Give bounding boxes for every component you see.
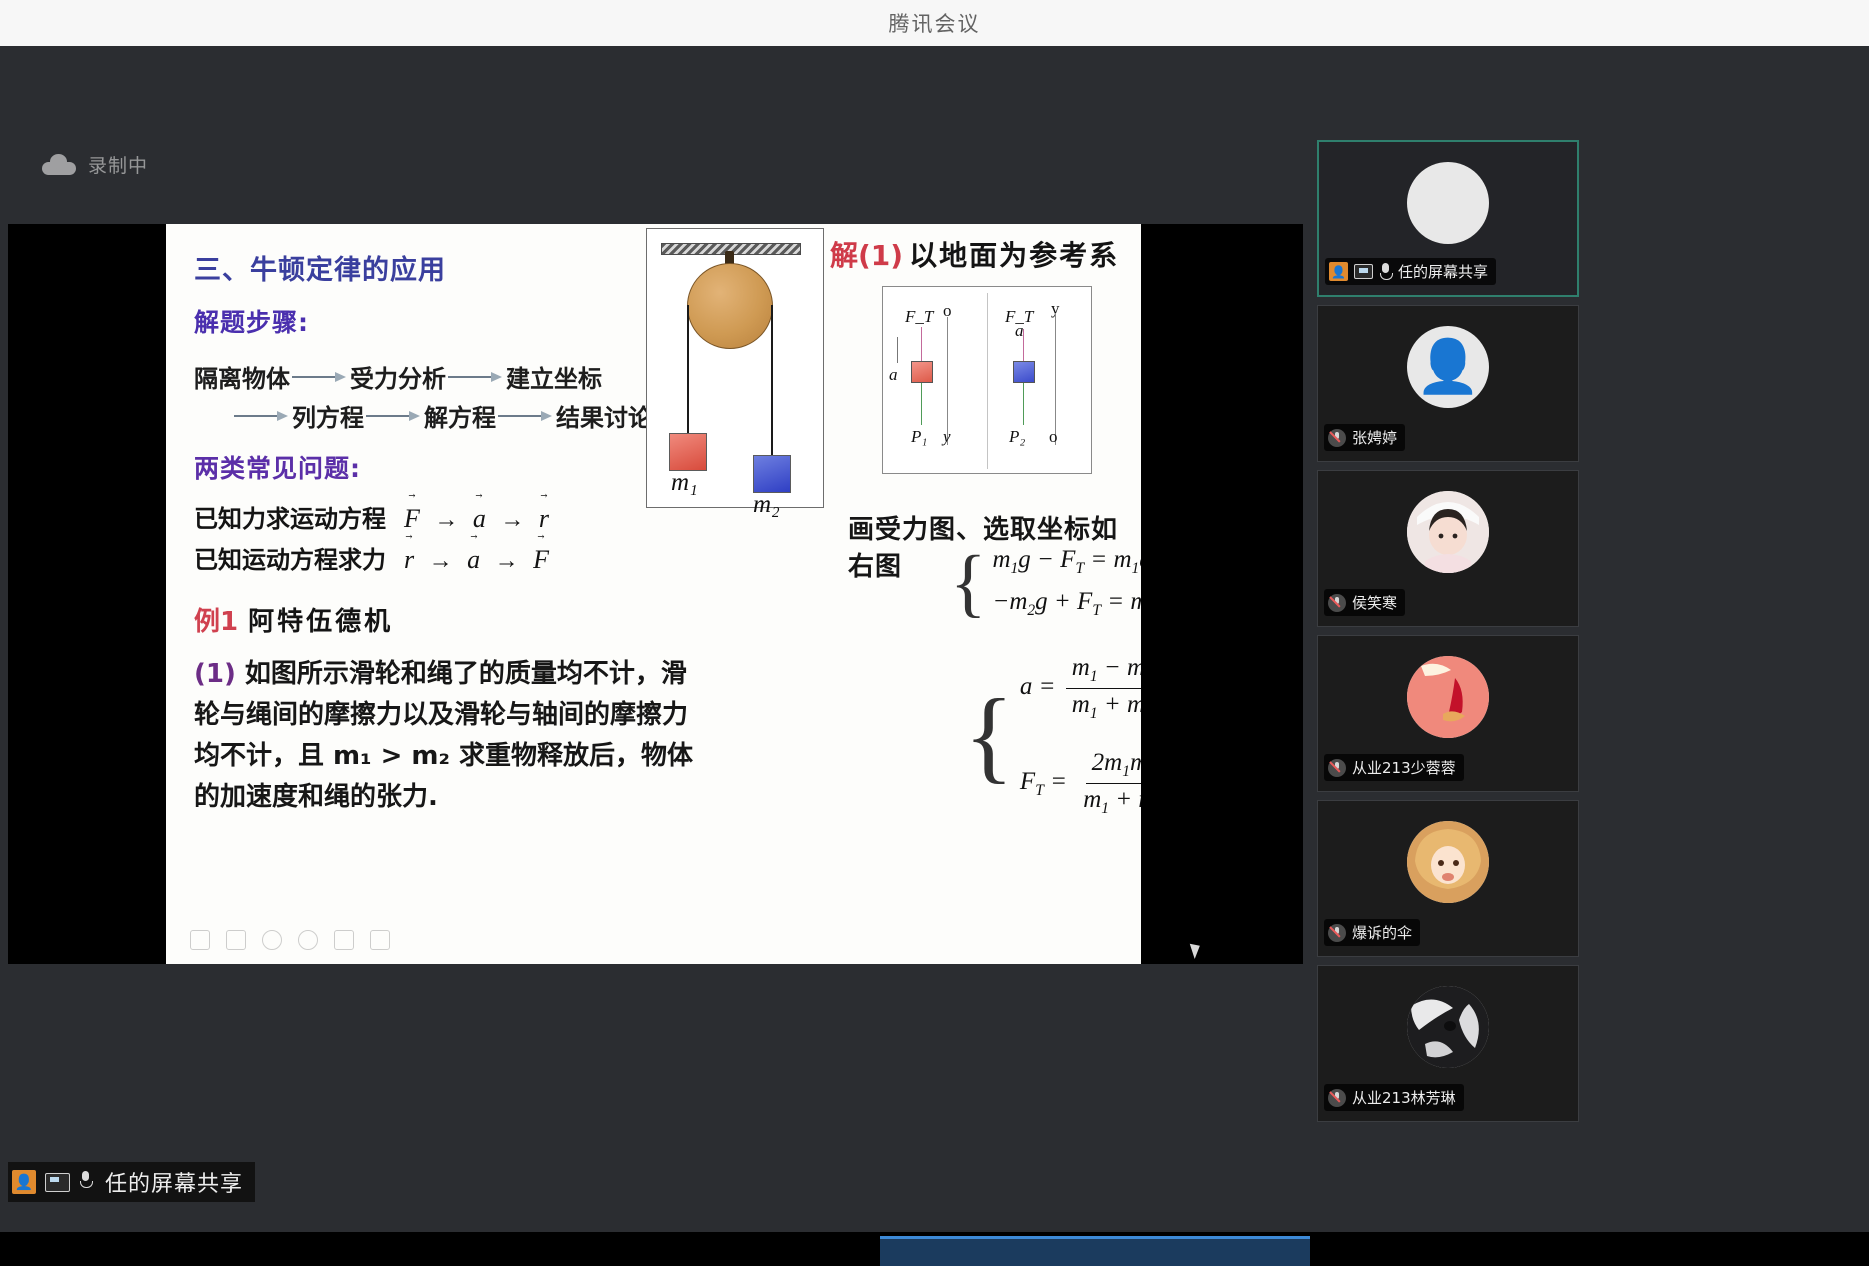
type2-sym-2: a xyxy=(467,542,480,575)
shape-icon[interactable] xyxy=(298,930,318,950)
nameplate: 张娉婷 xyxy=(1324,424,1405,451)
shared-screen-stage[interactable]: 三、牛顿定律的应用 解题步骤: 隔离物体 受力分析 建立坐标 列方程 解方程 xyxy=(8,224,1303,964)
arrow-icon xyxy=(292,371,348,383)
participant-tile-3[interactable]: 侯笑寒 xyxy=(1317,470,1579,627)
microphone-icon xyxy=(79,1171,96,1193)
microphone-muted-icon xyxy=(1328,429,1346,447)
flow-step-3: 建立坐标 xyxy=(506,359,602,394)
flow-row-1: 隔离物体 受力分析 建立坐标 xyxy=(194,359,694,394)
participant-tile-5[interactable]: 爆诉的伞 xyxy=(1317,800,1579,957)
slide-left-column: 三、牛顿定律的应用 解题步骤: 隔离物体 受力分析 建立坐标 列方程 解方程 xyxy=(194,248,694,818)
participant-name: 从业213少蓉蓉 xyxy=(1352,757,1456,778)
slide-subheading: 解题步骤: xyxy=(194,303,694,339)
participant-tile-1[interactable]: 👤 任的屏幕共享 xyxy=(1317,140,1579,297)
slide-heading: 三、牛顿定律的应用 xyxy=(194,248,694,287)
participant-name: 侯笑寒 xyxy=(1352,592,1397,613)
rope-left-icon xyxy=(687,305,689,435)
fbd-right-weight-label: P₂ xyxy=(1009,427,1025,447)
fbd-right-y-axis xyxy=(1055,313,1056,445)
nameplate: 侯笑寒 xyxy=(1324,589,1405,616)
fbd-left-weight-arrow xyxy=(921,383,922,425)
nameplate: 爆诉的伞 xyxy=(1324,919,1420,946)
fbd-right-accel-label: a xyxy=(1015,321,1024,341)
arrow-glyph-icon: → xyxy=(429,548,453,574)
mass2-block-icon xyxy=(753,455,791,493)
equation-3: a = m1 − m2 m1 + m2 g xyxy=(1020,654,1141,723)
avatar xyxy=(1407,656,1489,738)
share-status-label: 任的屏幕共享 xyxy=(105,1166,243,1198)
fbd-left-tension-label: F_T xyxy=(905,307,933,327)
host-badge-icon: 👤 xyxy=(12,1170,36,1194)
flow-step-2: 受力分析 xyxy=(350,359,446,394)
nameplate: 👤 任的屏幕共享 xyxy=(1325,258,1496,285)
flow-step-5: 解方程 xyxy=(424,398,496,433)
pulley-wheel-icon xyxy=(687,263,773,349)
question-number: (1) xyxy=(194,659,236,689)
avatar xyxy=(1407,491,1489,573)
meeting-window: 录制中 三、牛顿定律的应用 解题步骤: 隔离物体 受力分析 建立坐标 xyxy=(0,46,1869,1232)
host-badge-icon: 👤 xyxy=(1329,262,1348,281)
equation-group-2: { a = m1 − m2 m1 + m2 g FT = 2m1m2 m1 + … xyxy=(964,654,1141,818)
fbd-left-y-axis xyxy=(947,317,948,445)
taskbar[interactable] xyxy=(0,1232,1869,1266)
avatar xyxy=(1407,986,1489,1068)
avatar xyxy=(1407,821,1489,903)
recording-indicator[interactable]: 录制中 xyxy=(42,151,148,178)
free-body-diagram: F_T o a P₁ y F_T y xyxy=(882,286,1092,474)
arrow-icon xyxy=(366,410,422,422)
avatar-photo xyxy=(1407,821,1489,903)
fbd-left-tension-arrow xyxy=(921,327,922,361)
cloud-icon xyxy=(42,155,76,175)
flow-step-1: 隔离物体 xyxy=(194,359,290,394)
pointer-icon[interactable] xyxy=(334,930,354,950)
fraction: m1 − m2 m1 + m2 xyxy=(1066,654,1141,723)
taskbar-active-window[interactable] xyxy=(880,1236,1310,1266)
avatar-photo xyxy=(1407,986,1489,1068)
fbd-left-accel-axis xyxy=(897,337,898,363)
participant-tile-2[interactable]: 👤 张娉婷 xyxy=(1317,305,1579,462)
arrow-icon xyxy=(498,410,554,422)
participants-panel[interactable]: 👤 任的屏幕共享 👤 张娉婷 xyxy=(1309,92,1869,1266)
equation-4: FT = 2m1m2 m1 + m2 g xyxy=(1020,749,1141,818)
mass2-label: m₂ xyxy=(753,491,780,519)
avatar-photo xyxy=(1407,491,1489,573)
fraction: 2m1m2 m1 + m2 xyxy=(1077,749,1141,818)
os-titlebar: 腾讯会议 xyxy=(0,0,1869,46)
microphone-muted-icon xyxy=(1328,924,1346,942)
participant-tile-4[interactable]: 从业213少蓉蓉 xyxy=(1317,635,1579,792)
avatar: 👤 xyxy=(1407,326,1489,408)
screen-share-icon xyxy=(1354,264,1373,279)
problem-type-2-text: 已知运动方程求力 xyxy=(194,540,386,575)
participant-name: 从业213林芳琳 xyxy=(1352,1087,1456,1108)
fbd-left-axis-label: y xyxy=(943,427,951,447)
slide-annotation-toolbar[interactable] xyxy=(190,930,390,950)
problem-type-1-text: 已知力求运动方程 xyxy=(194,499,386,534)
nameplate: 从业213林芳琳 xyxy=(1324,1084,1464,1111)
flow-row-2: 列方程 解方程 结果讨论 xyxy=(194,398,694,433)
screen-share-icon xyxy=(45,1173,70,1192)
window-title: 腾讯会议 xyxy=(889,8,981,38)
flow-step-6: 结果讨论 xyxy=(556,398,652,433)
arrow-icon xyxy=(234,410,290,422)
equation-1: m1g − FT = m1a xyxy=(992,546,1141,578)
equation-group-1: { m1g − FT = m1a −m2g + FT = m2a xyxy=(950,546,1141,620)
mass1-label: m₁ xyxy=(671,469,698,497)
type2-sym-1: r xyxy=(404,542,414,575)
solution-title: 以地面为参考系 xyxy=(909,234,1119,274)
fbd-left: F_T o a P₁ y xyxy=(883,287,987,473)
solution-heading: 解(1) 以地面为参考系 xyxy=(830,234,1119,274)
arrow-glyph-icon: → xyxy=(495,548,519,574)
recording-label: 录制中 xyxy=(88,151,148,178)
fbd-right-weight-arrow xyxy=(1023,383,1024,425)
avatar xyxy=(1407,162,1489,244)
pulley-figure: m₁ m₂ xyxy=(646,228,824,508)
rope-right-icon xyxy=(771,305,773,457)
microphone-icon xyxy=(1379,263,1392,280)
presentation-slide: 三、牛顿定律的应用 解题步骤: 隔离物体 受力分析 建立坐标 列方程 解方程 xyxy=(166,224,1141,964)
participant-name: 任的屏幕共享 xyxy=(1398,261,1488,282)
arrow-glyph-icon: → xyxy=(434,507,458,533)
participant-tile-6[interactable]: 从业213林芳琳 xyxy=(1317,965,1579,1122)
mouse-cursor xyxy=(1190,941,1204,959)
problem-type-1: 已知力求运动方程 F → a → r xyxy=(194,499,694,534)
circle-icon[interactable] xyxy=(262,930,282,950)
arrow-glyph-icon: → xyxy=(500,507,524,533)
fbd-right-origin-label: o xyxy=(1049,427,1058,447)
solution-label: 解(1) xyxy=(830,234,903,274)
brace-icon: { xyxy=(964,693,1014,778)
type2-sym-3: F xyxy=(533,542,549,575)
flow-step-4: 列方程 xyxy=(292,398,364,433)
fbd-right: F_T y a P₂ o xyxy=(987,287,1091,473)
arrow-icon xyxy=(448,371,504,383)
example-line: 例1 阿特伍德机 xyxy=(194,601,694,638)
problem-type-2: 已知运动方程求力 r → a → F xyxy=(194,540,694,575)
eraser-icon[interactable] xyxy=(226,930,246,950)
participant-name: 张娉婷 xyxy=(1352,427,1397,448)
question-text: 如图所示滑轮和绳了的质量均不计，滑轮与绳间的摩擦力以及滑轮与轴间的摩擦力均不计，… xyxy=(194,659,693,812)
screen-root: 腾讯会议 录制中 三、牛顿定律的应用 解题步骤: 隔离物体 受力分析 xyxy=(0,0,1869,1266)
pen-icon[interactable] xyxy=(190,930,210,950)
microphone-muted-icon xyxy=(1328,759,1346,777)
problem-types-heading: 两类常见问题: xyxy=(194,449,694,485)
mass1-block-icon xyxy=(669,433,707,471)
equation-2: −m2g + FT = m2a xyxy=(992,588,1141,620)
nameplate: 从业213少蓉蓉 xyxy=(1324,754,1464,781)
fbd-left-weight-label: P₁ xyxy=(911,427,927,447)
brace-icon: { xyxy=(950,552,986,614)
camera-icon[interactable] xyxy=(370,930,390,950)
microphone-muted-icon xyxy=(1328,594,1346,612)
fbd-left-mass-icon xyxy=(911,361,933,383)
microphone-muted-icon xyxy=(1328,1089,1346,1107)
example-label: 例1 xyxy=(194,601,238,638)
example-title: 阿特伍德机 xyxy=(248,601,393,638)
avatar-photo xyxy=(1407,656,1489,738)
share-status-bar: 👤 任的屏幕共享 xyxy=(8,1162,255,1202)
question-body: (1) 如图所示滑轮和绳了的质量均不计，滑轮与绳间的摩擦力以及滑轮与轴间的摩擦力… xyxy=(194,654,704,818)
fbd-right-mass-icon xyxy=(1013,361,1035,383)
person-icon: 👤 xyxy=(1416,341,1481,393)
participant-name: 爆诉的伞 xyxy=(1352,922,1412,943)
fbd-left-accel-label: a xyxy=(889,365,898,385)
